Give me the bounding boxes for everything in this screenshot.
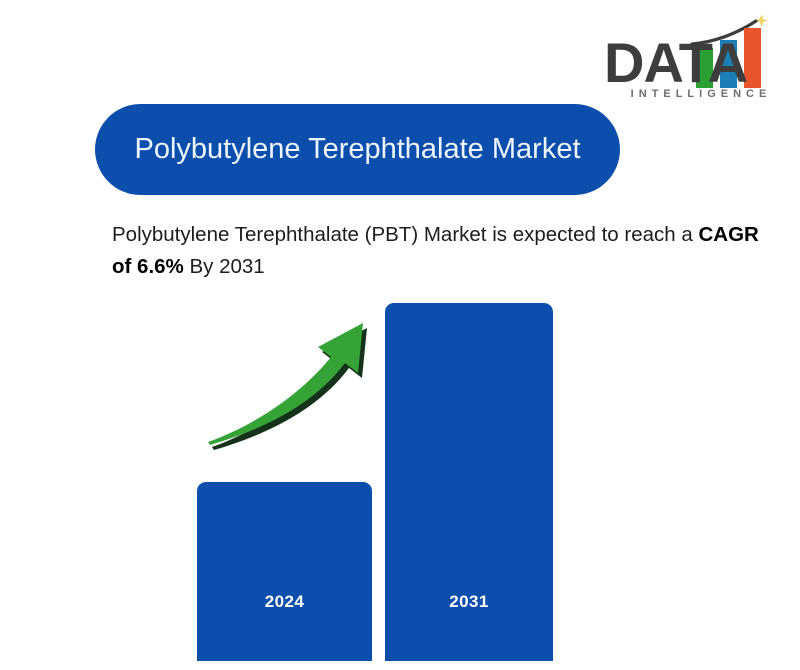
bar-2024: 2024 — [197, 482, 372, 661]
infographic-canvas: DATA INTELLIGENCE Polybutylene Terephtha… — [0, 0, 800, 670]
bar-chart: 2024 2031 — [0, 0, 800, 670]
growth-arrow-icon — [200, 295, 390, 450]
bar-label-2031: 2031 — [385, 592, 553, 612]
bar-label-2024: 2024 — [197, 592, 372, 612]
bar-2031: 2031 — [385, 303, 553, 661]
